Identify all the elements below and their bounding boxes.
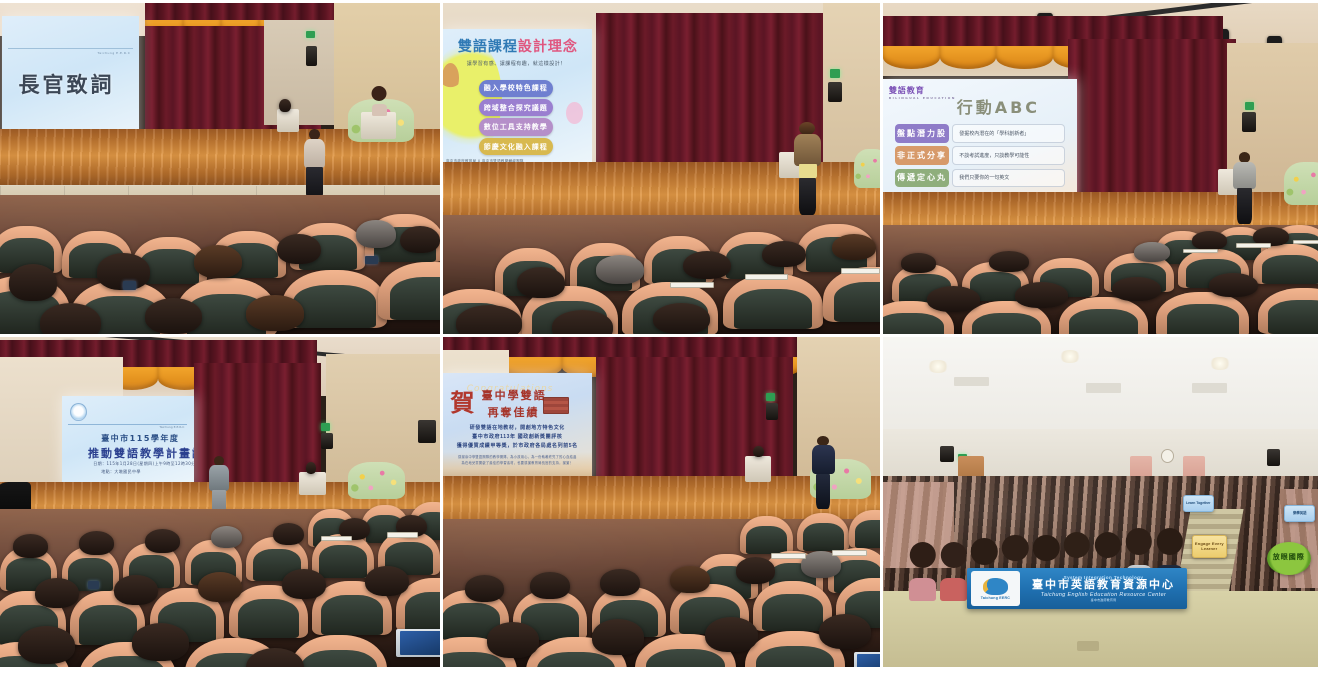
slide-row-key: 傳遞定心丸 — [895, 169, 950, 187]
wall-speaker — [1242, 112, 1255, 132]
slide-badge-en: BILINGUAL EDUCATION — [889, 96, 956, 100]
wall-speaker — [940, 446, 953, 463]
placard-green: 放眼國際 — [1267, 542, 1311, 575]
slide-title-part-2: 設計理念 — [518, 39, 578, 55]
slide-row-key: 非正式分享 — [895, 146, 950, 164]
slide-badge-cn: 雙語教育 — [889, 86, 925, 95]
slide-corner-note: Taichung E.E.R.C — [97, 51, 130, 55]
exit-sign-icon — [830, 69, 840, 78]
slide-row-key: 盤點潛力股 — [895, 124, 950, 142]
seat-name-tag — [1236, 243, 1271, 247]
wall-speaker — [306, 46, 317, 66]
slide-fine-print-2: 為在地兒童開啟了最佳的學習素材，也要感謝教育局長官的支持，謝謝！ — [443, 460, 592, 465]
slide-bullet-1: 融入學校特色課程 — [479, 80, 553, 97]
seat-name-tag — [1293, 240, 1318, 244]
slide-title-line-2: 再奪佳績 — [488, 404, 540, 420]
seated-staff-head — [306, 462, 317, 474]
floor-drain — [1077, 641, 1099, 651]
slide-dot-shape — [566, 102, 582, 124]
slide-row-1: 盤點潛力股 發掘校內潛在的「學科創新者」 — [895, 124, 1066, 142]
banner-logo-text: Taichung EERC — [981, 596, 1010, 600]
stage-right-wall — [264, 20, 343, 126]
education-bureau-logo — [70, 403, 87, 421]
photo-collage: Taichung E.E.R.C 長官致詞 — [0, 0, 1318, 673]
seat-name-tag — [1183, 249, 1218, 253]
wall-speaker — [766, 403, 777, 420]
slide-corner-note: Taichung E.E.R.C — [159, 425, 184, 429]
slide-bullet-4: 節慶文化融入課程 — [479, 138, 553, 155]
speaker-figure — [810, 436, 836, 509]
projection-screen: 賀 Congratulations 臺中學雙語 再奪佳績 研發雙語在地教材，開創… — [443, 373, 592, 482]
flower-arrangement — [348, 462, 405, 498]
slide-row-value: 發掘校內潛在的「學科創新者」 — [952, 124, 1065, 142]
ceiling-vent — [954, 377, 989, 387]
ceiling-vent — [1192, 383, 1227, 393]
photo-bottom-left[interactable]: Taichung E.E.R.C 臺中市115學年度 推動雙語教學計畫說明會 日… — [0, 337, 440, 667]
attendee-phone — [123, 281, 136, 289]
wall-speaker — [321, 433, 332, 450]
exit-sign-icon — [306, 31, 315, 38]
front-row-person — [909, 542, 935, 601]
flower-arrangement — [854, 149, 880, 189]
audience-area — [0, 195, 440, 334]
seat-name-tag — [832, 550, 867, 556]
slide-row-value: 我們只要你的一句英文 — [952, 169, 1065, 187]
banner-org-line: 臺中市政府教育局 — [1024, 598, 1183, 602]
slide-row-2: 非正式分享 不談考試進度，只談教學可能性 — [895, 146, 1066, 164]
audience-area — [883, 225, 1318, 334]
exit-sign-icon — [766, 393, 775, 401]
projection-screen: 雙語教育 BILINGUAL EDUCATION 行動ABC 盤點潛力股 發掘校… — [883, 79, 1077, 201]
speaker-figure — [1231, 152, 1257, 228]
slide-badge: 雙語教育 BILINGUAL EDUCATION — [889, 85, 956, 100]
podium — [361, 112, 396, 138]
photo-top-center[interactable]: 雙語課程設計理念 讓學習有感、讓課程有趣，就這樣設計！ 融入學校特色課程 跨域整… — [443, 3, 880, 334]
placard-blue-1: 樂學英語 — [1284, 505, 1315, 522]
stage-curtain — [1068, 39, 1236, 211]
slide-line-4: 地點：大墩國民中學 — [101, 469, 141, 475]
exit-sign-icon — [1245, 102, 1255, 110]
slide-award-stamp — [543, 397, 570, 413]
projection-screen: Taichung E.E.R.C 臺中市115學年度 推動雙語教學計畫說明會 日… — [62, 396, 194, 488]
slide-body-line-1: 研發雙語在地教材，開創地方特色文化 — [443, 424, 592, 431]
projection-screen: 雙語課程設計理念 讓學習有感、讓課程有趣，就這樣設計！ 融入學校特色課程 跨域整… — [443, 29, 592, 168]
slide-line-3: 日期：115年1月28日(星期四)上午9時至12時30分 — [93, 461, 193, 467]
banner-body: System Integration Technology 臺中市英語教育資源中… — [1020, 575, 1188, 602]
stage-table — [745, 456, 771, 482]
slide-bullet-2: 跨域整合探究議題 — [479, 99, 553, 116]
slide-subtitle: 讓學習有感、讓課程有趣，就這樣設計！ — [467, 60, 566, 67]
stage-table — [277, 109, 299, 132]
slide-body-line-3: 獲得優質成績甲等獎，於市政府各局處名列前5名 — [443, 442, 592, 449]
stage-table — [299, 472, 325, 495]
eerc-logo-icon — [983, 578, 1008, 595]
placard-blue-2: Learn Together — [1183, 495, 1214, 512]
wall-speaker — [828, 82, 842, 102]
podium-host — [372, 86, 387, 116]
exit-sign-icon — [321, 423, 330, 431]
front-row-person — [940, 542, 966, 601]
wall-speaker — [1267, 449, 1280, 466]
photo-bottom-right[interactable]: Taichung EERC System Integration Technol… — [883, 337, 1318, 667]
slide-title: 雙語課程設計理念 — [458, 36, 578, 56]
seat-name-tag — [321, 536, 352, 542]
attendee-laptop — [854, 652, 880, 667]
photo-top-right[interactable]: 雙語教育 BILINGUAL EDUCATION 行動ABC 盤點潛力股 發掘校… — [883, 3, 1318, 334]
banner-title-en: Taichung English Education Resource Cent… — [1024, 592, 1183, 598]
photo-top-left[interactable]: Taichung E.E.R.C 長官致詞 — [0, 3, 440, 334]
seat-name-tag — [670, 282, 714, 288]
slide-rule — [8, 48, 133, 49]
slide-row-value: 不談考試進度，只談教學可能性 — [952, 146, 1065, 164]
slide-title-part-1: 雙語課程 — [458, 39, 518, 55]
attendee-phone — [365, 256, 378, 264]
slide-title: 長官致詞 — [19, 69, 115, 99]
ceiling-vent — [1086, 383, 1121, 393]
audience-area — [443, 215, 880, 334]
slide-row-3: 傳遞定心丸 我們只要你的一句英文 — [895, 169, 1066, 187]
seated-staff-head — [753, 446, 763, 458]
slide-line-2: 推動雙語教學計畫說明會 — [88, 445, 194, 461]
slide-title: 行動ABC — [957, 94, 1040, 118]
speaker-figure — [793, 122, 824, 215]
slide-body-line-2: 臺中市政府113年 國政創新獎團評核 — [443, 433, 592, 440]
wall-clock-icon — [1161, 449, 1174, 463]
slide-line-1: 臺中市115學年度 — [101, 433, 179, 444]
seat-name-tag — [841, 268, 880, 274]
audience-area — [443, 519, 880, 668]
audience-area — [0, 509, 440, 667]
placard-yellow: Engage Every Learner — [1192, 535, 1227, 558]
slide-fine-print-1: 感謝臺中學雙語團隊的教學團隊，為小孩用心，為一份執著終究了的心血結晶 — [443, 454, 592, 459]
seat-name-tag — [387, 532, 418, 538]
attendee-phone — [88, 581, 99, 589]
seated-staff-head — [279, 99, 290, 112]
slide-title-line-1: 臺中學雙語 — [482, 387, 547, 403]
attendee-laptop — [396, 629, 440, 658]
seat-name-tag — [745, 274, 789, 280]
wall-speaker — [418, 420, 436, 443]
slide-bullet-3: 數位工具支持教學 — [479, 118, 553, 135]
flower-arrangement — [1284, 162, 1318, 205]
banner-logo: Taichung EERC — [971, 571, 1020, 606]
photo-bottom-center[interactable]: 賀 Congratulations 臺中學雙語 再奪佳績 研發雙語在地教材，開創… — [443, 337, 880, 667]
event-banner: Taichung EERC System Integration Technol… — [967, 568, 1188, 609]
seat-name-tag — [771, 553, 806, 559]
banner-title-cn: 臺中市英語教育資源中心 — [1024, 580, 1183, 592]
